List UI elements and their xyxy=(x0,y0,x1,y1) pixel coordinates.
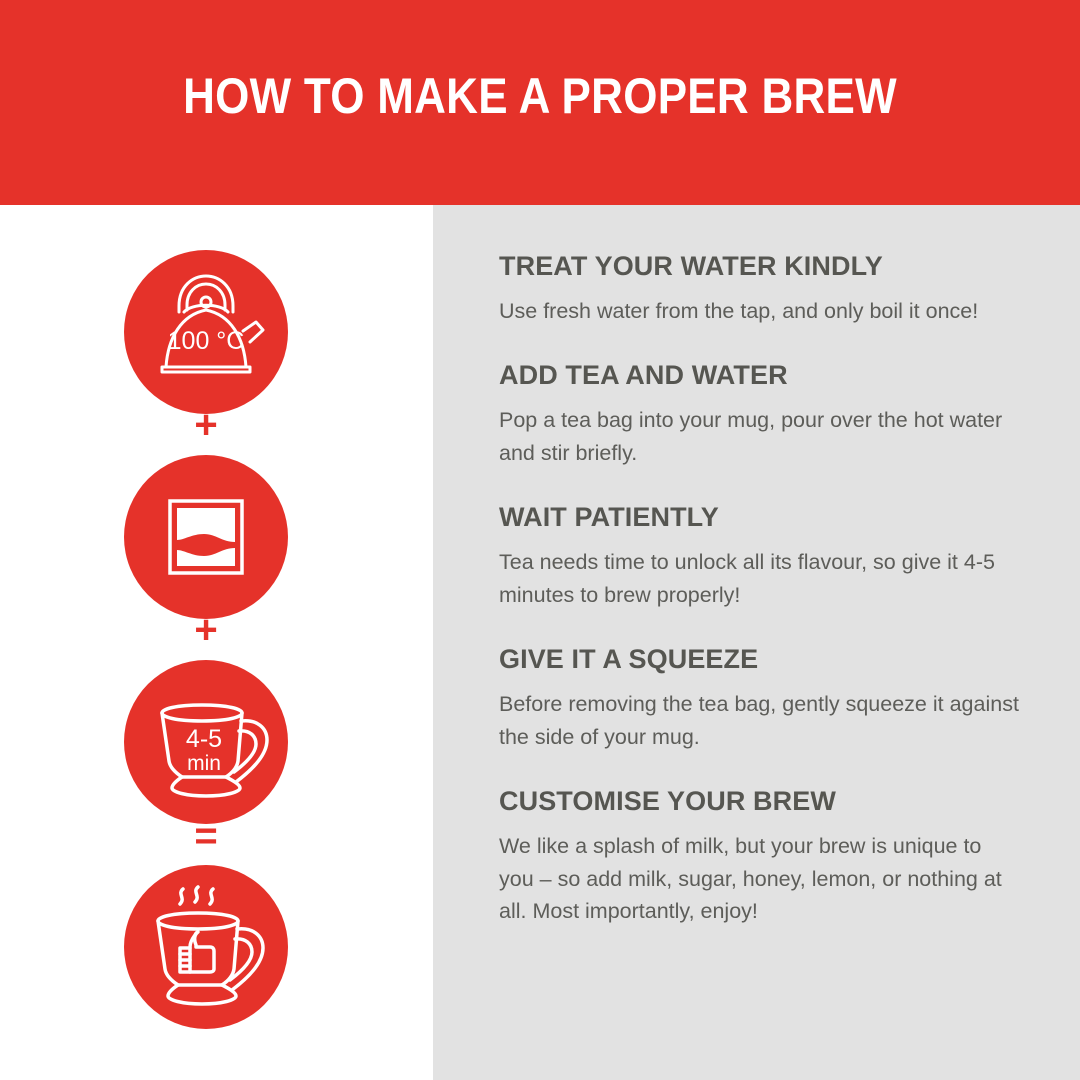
step-body: We like a splash of milk, but your brew … xyxy=(499,830,1019,928)
header-band: HOW TO MAKE A PROPER BREW xyxy=(0,0,1080,205)
teacup-timer-icon: 4-5 min xyxy=(124,660,288,824)
tea-bag-icon xyxy=(124,455,288,619)
step-item: GIVE IT A SQUEEZE Before removing the te… xyxy=(499,645,1019,753)
page-title: HOW TO MAKE A PROPER BREW xyxy=(65,0,1015,192)
kettle-temperature-label: 100 °C xyxy=(168,327,245,355)
teacup-time-label: 4-5 xyxy=(186,725,222,753)
icon-column: 100 °C + + xyxy=(0,199,433,1080)
thumbs-up-mug-icon-glyph xyxy=(124,865,288,1029)
step-title: ADD TEA AND WATER xyxy=(499,361,1019,391)
connector-equals: = xyxy=(124,816,288,856)
step-title: GIVE IT A SQUEEZE xyxy=(499,645,1019,675)
step-title: WAIT PATIENTLY xyxy=(499,503,1019,533)
step-body: Tea needs time to unlock all its flavour… xyxy=(499,546,1019,611)
step-item: CUSTOMISE YOUR BREW We like a splash of … xyxy=(499,787,1019,928)
kettle-icon-glyph: 100 °C xyxy=(124,250,288,414)
thumbs-up-mug-icon xyxy=(124,865,288,1029)
connector-plus-1: + xyxy=(124,405,288,445)
infographic-root: HOW TO MAKE A PROPER BREW xyxy=(0,0,1080,1080)
step-item: ADD TEA AND WATER Pop a tea bag into you… xyxy=(499,361,1019,469)
step-title: CUSTOMISE YOUR BREW xyxy=(499,787,1019,817)
step-title: TREAT YOUR WATER KINDLY xyxy=(499,252,1019,282)
teacup-timer-icon-glyph: 4-5 min xyxy=(124,660,288,824)
kettle-icon: 100 °C xyxy=(124,250,288,414)
steps-list: TREAT YOUR WATER KINDLY Use fresh water … xyxy=(499,252,1019,928)
step-body: Pop a tea bag into your mug, pour over t… xyxy=(499,404,1019,469)
tea-bag-icon-glyph xyxy=(124,455,288,619)
connector-plus-2: + xyxy=(124,610,288,650)
step-body: Use fresh water from the tap, and only b… xyxy=(499,295,1019,328)
step-item: TREAT YOUR WATER KINDLY Use fresh water … xyxy=(499,252,1019,327)
teacup-unit-label: min xyxy=(187,752,221,775)
step-body: Before removing the tea bag, gently sque… xyxy=(499,688,1019,753)
step-item: WAIT PATIENTLY Tea needs time to unlock … xyxy=(499,503,1019,611)
